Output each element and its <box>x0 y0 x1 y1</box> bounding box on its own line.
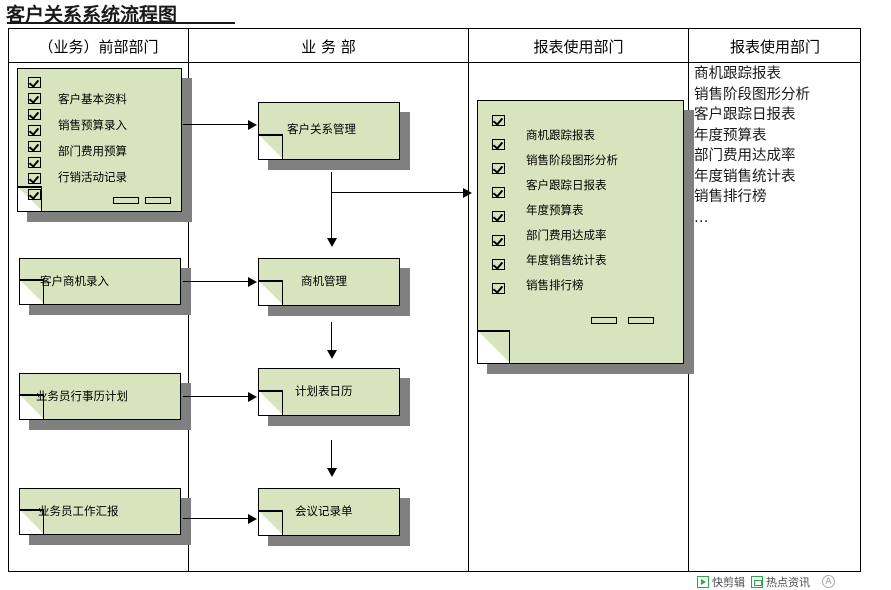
folded-corner-icon <box>259 135 283 159</box>
connector-arrow-icon <box>248 392 257 402</box>
connector-line <box>331 172 332 240</box>
checkbox-icon <box>492 139 505 150</box>
doc-mini-button[interactable] <box>628 317 654 324</box>
doc-mini-button[interactable] <box>591 317 617 324</box>
bottom-taskbar: 快剪辑 热点资讯 A <box>697 573 891 590</box>
report-list: 商机跟踪报表 销售阶段图形分析 客户跟踪日报表 年度预算表 部门费用达成率 年度… <box>694 64 859 228</box>
report-item-label: 销售阶段图形分析 <box>526 152 618 168</box>
process-box-calendar[interactable]: 计划表日历 <box>258 368 400 416</box>
process-box-label: 商机管理 <box>301 273 347 289</box>
fold-edge2 <box>282 281 284 305</box>
front-box-label: 客户商机录入 <box>40 273 109 289</box>
connector-line <box>183 281 249 282</box>
process-box-crm[interactable]: 客户关系管理 <box>258 102 400 160</box>
news-icon <box>751 576 763 588</box>
input-item-label: 部门费用预算 <box>58 143 127 159</box>
list-item: 销售排行榜 <box>694 187 859 208</box>
process-box-opportunity[interactable]: 商机管理 <box>258 258 400 306</box>
column-header-business-department: 业 务 部 <box>189 32 468 60</box>
taskbar-item-label: 快剪辑 <box>712 574 745 590</box>
fold-edge2 <box>282 135 284 159</box>
list-item: 销售阶段图形分析 <box>694 85 859 106</box>
checkbox-icon <box>492 187 505 198</box>
front-box-sales-calendar[interactable]: 业务员行事历计划 <box>19 373 181 420</box>
connector-line <box>183 396 249 397</box>
taskbar-badge-icon[interactable]: A <box>822 575 835 588</box>
taskbar-item-quickcut[interactable]: 快剪辑 <box>697 574 745 590</box>
fold-edge2 <box>282 511 284 535</box>
connector-arrow-icon <box>248 514 257 524</box>
checkbox-icon <box>492 283 505 294</box>
front-box-customer-opportunity[interactable]: 客户商机录入 <box>19 258 181 305</box>
list-item: 年度销售统计表 <box>694 167 859 188</box>
title-underline <box>7 22 235 24</box>
connector-arrow-icon <box>463 188 472 198</box>
connector-arrow-icon <box>248 277 257 287</box>
doc-mini-button[interactable] <box>145 197 171 204</box>
connector-line <box>331 440 332 470</box>
fold-edge <box>259 134 283 136</box>
front-box-label: 业务员行事历计划 <box>36 388 128 404</box>
report-item-label: 年度预算表 <box>526 202 584 218</box>
fold-edge2 <box>282 391 284 415</box>
list-item: 年度预算表 <box>694 126 859 147</box>
checkbox-icon <box>28 93 41 104</box>
header-separator <box>8 62 861 63</box>
doc-mini-button[interactable] <box>113 197 139 204</box>
folded-corner-icon <box>259 511 283 535</box>
fold-edge2 <box>509 331 511 363</box>
list-item: 部门费用达成率 <box>694 146 859 167</box>
checkbox-icon <box>492 211 505 222</box>
fold-edge <box>259 280 283 282</box>
report-item-label: 年度销售统计表 <box>526 252 607 268</box>
checkbox-icon <box>28 157 41 168</box>
play-icon <box>697 576 709 588</box>
taskbar-item-news[interactable]: 热点资讯 <box>751 574 810 590</box>
folded-corner-icon <box>478 331 510 363</box>
folded-corner-icon <box>259 391 283 415</box>
connector-line <box>183 124 249 125</box>
checkbox-icon <box>28 189 41 200</box>
checkbox-icon <box>492 115 505 126</box>
taskbar-item-label: 热点资讯 <box>766 574 810 590</box>
connector-line <box>331 192 464 193</box>
checkbox-icon <box>28 173 41 184</box>
fold-edge <box>259 510 283 512</box>
checkbox-icon <box>28 125 41 136</box>
fold-edge <box>478 330 510 332</box>
checkbox-icon <box>492 259 505 270</box>
connector-arrow-icon <box>327 238 337 247</box>
report-item-label: 销售排行榜 <box>526 277 584 293</box>
front-box-label: 业务员工作汇报 <box>38 503 119 519</box>
folded-corner-icon <box>259 281 283 305</box>
fold-edge <box>259 390 283 392</box>
connector-arrow-icon <box>327 350 337 359</box>
input-item-label: 客户基本资料 <box>58 91 127 107</box>
connector-arrow-icon <box>248 120 257 130</box>
fold-edge <box>18 186 42 188</box>
input-item-label: 销售预算录入 <box>58 117 127 133</box>
list-item: 客户跟踪日报表 <box>694 105 859 126</box>
checkbox-icon <box>28 109 41 120</box>
column-header-report-list: 报表使用部门 <box>689 32 861 60</box>
column-header-front-department: （业务）前部部门 <box>9 32 188 60</box>
connector-line <box>183 518 249 519</box>
process-box-label: 会议记录单 <box>295 503 353 519</box>
list-item-ellipsis: … <box>694 208 859 229</box>
column-divider-2 <box>468 28 469 572</box>
list-item: 商机跟踪报表 <box>694 64 859 85</box>
checkbox-icon <box>28 77 41 88</box>
report-item-label: 客户跟踪日报表 <box>526 177 607 193</box>
checkbox-icon <box>28 141 41 152</box>
connector-arrow-icon <box>327 468 337 477</box>
checkbox-icon <box>492 163 505 174</box>
process-box-label: 客户关系管理 <box>287 121 356 137</box>
column-header-report-department: 报表使用部门 <box>469 32 688 60</box>
input-document[interactable]: 客户基本资料 销售预算录入 部门费用预算 行销活动记录 <box>17 68 182 212</box>
report-item-label: 商机跟踪报表 <box>526 127 595 143</box>
report-document[interactable]: 商机跟踪报表 销售阶段图形分析 客户跟踪日报表 年度预算表 部门费用达成率 年度… <box>477 100 684 364</box>
process-box-meeting-record[interactable]: 会议记录单 <box>258 488 400 536</box>
connector-line <box>331 322 332 352</box>
flowchart-page: 客户关系系统流程图 （业务）前部部门 业 务 部 报表使用部门 报表使用部门 客… <box>0 0 891 590</box>
checkbox-icon <box>492 235 505 246</box>
front-box-work-report[interactable]: 业务员工作汇报 <box>19 488 181 535</box>
process-box-label: 计划表日历 <box>295 383 353 399</box>
input-item-label: 行销活动记录 <box>58 169 127 185</box>
report-item-label: 部门费用达成率 <box>526 227 607 243</box>
